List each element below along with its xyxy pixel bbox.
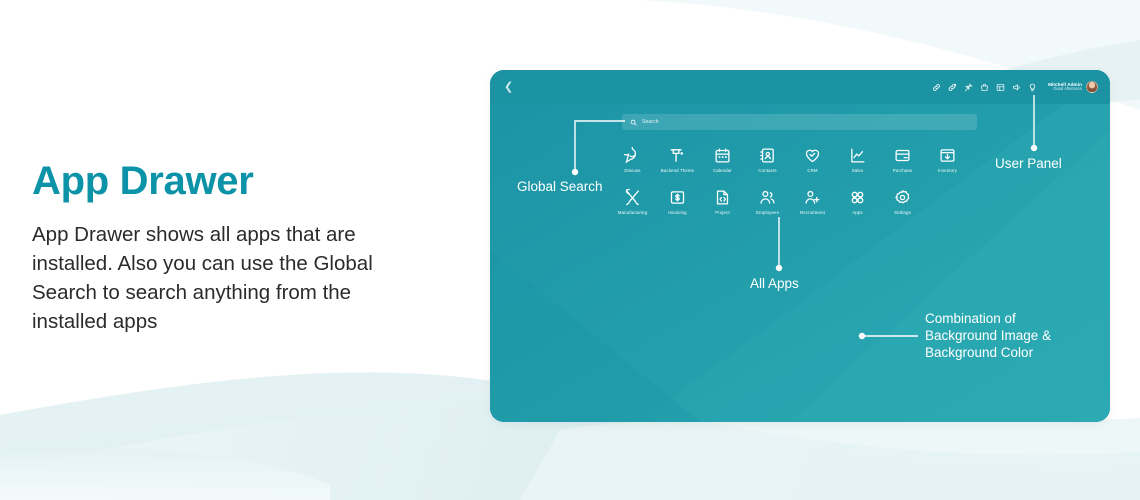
app-label: Discuss	[624, 168, 640, 173]
app-label: Calendar	[713, 168, 732, 173]
chevron-left-icon[interactable]: ❮	[504, 82, 513, 93]
sales-icon	[849, 147, 866, 164]
page-title: App Drawer	[32, 160, 462, 202]
app-label: Backend Theme	[661, 168, 694, 173]
app-label: Settings	[894, 210, 911, 215]
app-label: CRM	[807, 168, 817, 173]
user-greeting: Good Afternoon	[1048, 87, 1082, 92]
app-tile-settings[interactable]: Settings	[880, 187, 925, 229]
app-grid: Discuss Backend Theme Calendar	[610, 145, 970, 229]
app-label: Invoicing	[668, 210, 686, 215]
app-tile-calendar[interactable]: Calendar	[700, 145, 745, 187]
annotation-background-line2: Background Image &	[925, 327, 1051, 344]
app-tile-backend-theme[interactable]: Backend Theme	[655, 145, 700, 187]
annotation-background: Combination of Background Image & Backgr…	[925, 310, 1051, 361]
app-tile-project[interactable]: Project	[700, 187, 745, 229]
global-search-input[interactable]: Search	[622, 114, 977, 130]
app-drawer-panel: ❮	[490, 70, 1110, 422]
app-tile-invoicing[interactable]: Invoicing	[655, 187, 700, 229]
app-tile-inventory[interactable]: Inventory	[925, 145, 970, 187]
app-tile-crm[interactable]: CRM	[790, 145, 835, 187]
avatar[interactable]	[1086, 81, 1098, 93]
app-tile-purchase[interactable]: Purchase	[880, 145, 925, 187]
employees-icon	[759, 189, 776, 206]
app-tile-sales[interactable]: Sales	[835, 145, 880, 187]
search-icon	[630, 119, 637, 126]
calendar-icon	[714, 147, 731, 164]
link-badge-icon[interactable]	[948, 83, 957, 92]
contacts-icon	[759, 147, 776, 164]
backend-theme-icon	[669, 147, 686, 164]
app-tile-recruitment[interactable]: Recruitment	[790, 187, 835, 229]
app-label: Recruitment	[800, 210, 825, 215]
annotation-all-apps: All Apps	[750, 275, 799, 292]
project-icon	[714, 189, 731, 206]
app-label: Inventory	[938, 168, 957, 173]
annotation-global-search: Global Search	[517, 178, 603, 195]
invoicing-icon	[669, 189, 686, 206]
user-text: Mitchell Admin Good Afternoon	[1048, 82, 1082, 92]
panel-topbar: ❮	[490, 70, 1110, 104]
app-label: Apps	[852, 210, 863, 215]
intro-copy: App Drawer App Drawer shows all apps tha…	[32, 160, 462, 336]
app-tile-employees[interactable]: Employees	[745, 187, 790, 229]
app-label: Contacts	[758, 168, 776, 173]
manufacturing-icon	[624, 189, 641, 206]
annotation-background-line1: Combination of	[925, 310, 1051, 327]
app-tile-manufacturing[interactable]: Manufacturing	[610, 187, 655, 229]
page-description: App Drawer shows all apps that are insta…	[32, 220, 392, 336]
search-placeholder: Search	[642, 119, 659, 125]
app-label: Purchase	[893, 168, 913, 173]
bag-icon[interactable]	[980, 83, 989, 92]
crm-icon	[804, 147, 821, 164]
bulb-icon[interactable]	[1028, 83, 1037, 92]
topbar-icon-group: Mitchell Admin Good Afternoon	[932, 81, 1102, 93]
app-label: Manufacturing	[618, 210, 647, 215]
app-tile-apps[interactable]: Apps	[835, 187, 880, 229]
pin-icon[interactable]	[964, 83, 973, 92]
annotation-background-line3: Background Color	[925, 344, 1051, 361]
app-label: Sales	[852, 168, 864, 173]
inventory-icon	[939, 147, 956, 164]
annotation-user-panel: User Panel	[995, 155, 1062, 172]
app-label: Project	[715, 210, 730, 215]
purchase-icon	[894, 147, 911, 164]
app-tile-contacts[interactable]: Contacts	[745, 145, 790, 187]
settings-icon	[894, 189, 911, 206]
apps-icon	[849, 189, 866, 206]
recruitment-icon	[804, 189, 821, 206]
link-icon[interactable]	[932, 83, 941, 92]
grid-icon[interactable]	[996, 83, 1005, 92]
app-tile-discuss[interactable]: Discuss	[610, 145, 655, 187]
megaphone-icon[interactable]	[1012, 83, 1021, 92]
app-label: Employees	[756, 210, 779, 215]
discuss-icon	[624, 147, 641, 164]
user-panel[interactable]: Mitchell Admin Good Afternoon	[1048, 81, 1098, 93]
